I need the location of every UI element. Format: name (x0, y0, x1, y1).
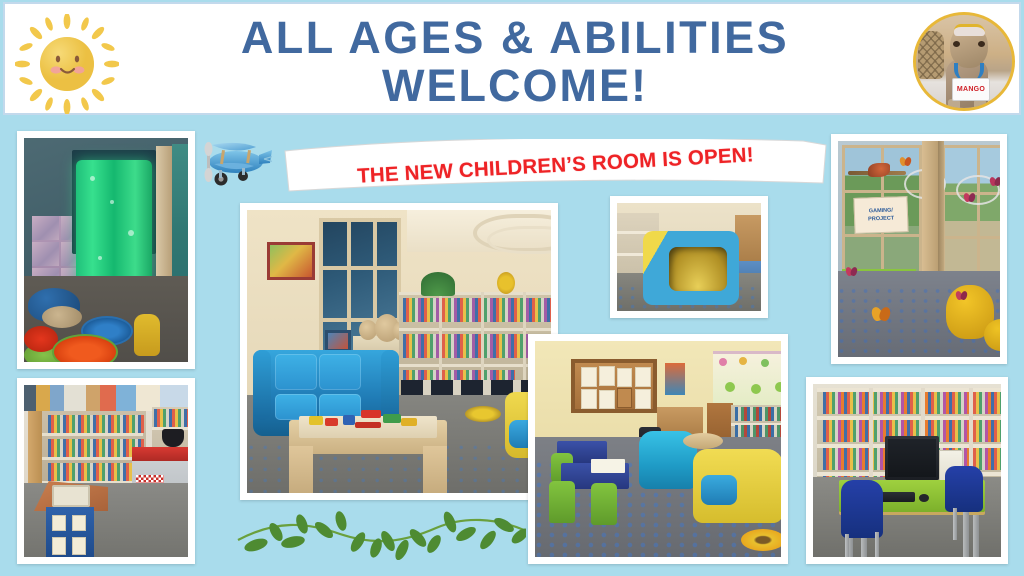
title-line-1: ALL AGES & ABILITIES (241, 14, 789, 62)
decorative-banner (713, 351, 781, 408)
sunflower-decoration (497, 272, 515, 294)
chair-legs-left (845, 534, 849, 557)
computer-monitor (885, 436, 939, 480)
photo-study-lounge (528, 334, 788, 564)
library-promo-poster: ALL AGES & ABILITIES WELCOME! MANGO (0, 0, 1024, 576)
blue-propeller-airplane-icon (196, 132, 272, 188)
sunflower-rug (465, 406, 501, 422)
bird-decoration (868, 163, 890, 177)
dollhouse (34, 481, 108, 557)
mouse (919, 494, 929, 502)
photo-image (535, 341, 781, 557)
photo-image: GAMING/ PROJECT (838, 141, 1000, 357)
chair-legs-right (953, 508, 957, 540)
yellow-seat (134, 314, 160, 356)
keyboard (881, 492, 915, 502)
photo-image (813, 384, 1001, 557)
avatar-eye-left (953, 41, 960, 47)
photo-image (617, 203, 761, 311)
photo-main-childrens-room (240, 203, 558, 500)
green-chair-left (549, 481, 575, 523)
blue-chair-left (841, 480, 883, 538)
photo-play-area-dollhouse (17, 378, 195, 564)
round-side-table (683, 433, 723, 449)
play-kitchen-hood (162, 429, 184, 447)
name-badge-label: MANGO (957, 86, 985, 93)
header-panel: ALL AGES & ABILITIES WELCOME! MANGO (3, 2, 1021, 115)
page-title: ALL AGES & ABILITIES WELCOME! (125, 12, 905, 112)
green-chair-right (591, 483, 617, 525)
photo-image (247, 210, 551, 493)
photo-image (24, 138, 188, 362)
train-play-table (289, 402, 447, 493)
announcement-ribbon: THE NEW CHILDREN’S ROOM IS OPEN! (283, 139, 828, 193)
photo-computer-station (806, 377, 1008, 564)
avatar-eye-right (978, 41, 985, 47)
corkboard (571, 359, 657, 413)
photo-gaming-project-room: GAMING/ PROJECT (831, 134, 1007, 364)
name-badge: MANGO (952, 78, 990, 101)
title-line-2: WELCOME! (382, 62, 648, 110)
leafy-vine-icon (236, 508, 526, 560)
plush-toy (42, 306, 82, 328)
sunflower-rug (741, 529, 781, 551)
table-leg-front-right (963, 508, 969, 557)
papers-on-desk (591, 459, 625, 473)
smiling-sun-icon (15, 14, 119, 114)
potted-plant (421, 272, 455, 296)
bubble-tube (76, 160, 152, 290)
floor-mat-orange (52, 334, 118, 362)
photo-sensory-room (17, 131, 195, 369)
photo-image (24, 385, 188, 557)
photo-cube-reading-nook (610, 196, 768, 318)
yellow-armchair (693, 449, 781, 523)
avatar-basket-icon (918, 31, 944, 79)
window-right (942, 145, 1000, 277)
framed-artwork (267, 242, 315, 280)
wall-poster (665, 363, 685, 395)
blue-chair-right (945, 466, 983, 512)
avatar-mouth (954, 24, 985, 36)
framed-artwork-small (325, 330, 351, 352)
cube-seat (643, 231, 739, 305)
avatar: MANGO (913, 12, 1015, 111)
room-sign: GAMING/ PROJECT (853, 196, 908, 234)
room-sign-line-2: PROJECT (868, 215, 894, 224)
chair-legs-left-2 (875, 532, 879, 557)
